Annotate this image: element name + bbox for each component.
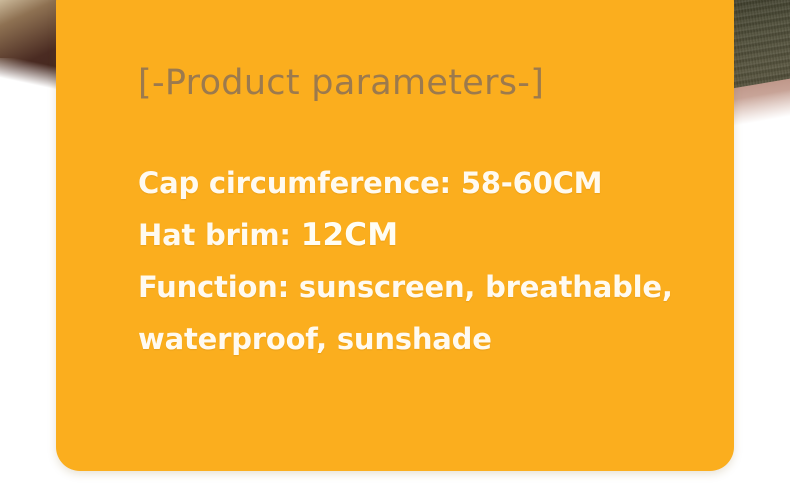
card-content: [-Product parameters-] Cap circumference… bbox=[56, 0, 734, 471]
spec-hat-brim: Hat brim: 12CM bbox=[138, 209, 718, 261]
specification-list: Cap circumference: 58-60CM Hat brim: 12C… bbox=[138, 157, 718, 365]
spec-cap-circumference: Cap circumference: 58-60CM bbox=[138, 157, 718, 209]
spec-function: Function: sunscreen, breathable, waterpr… bbox=[138, 261, 718, 365]
parameters-heading: [-Product parameters-] bbox=[138, 66, 544, 101]
product-parameters-card: [-Product parameters-] Cap circumference… bbox=[56, 0, 734, 471]
spec-hat-brim-label: Hat brim: bbox=[138, 218, 301, 252]
spec-hat-brim-value: 12CM bbox=[301, 217, 399, 253]
product-parameters-screenshot: [-Product parameters-] Cap circumference… bbox=[0, 0, 790, 504]
